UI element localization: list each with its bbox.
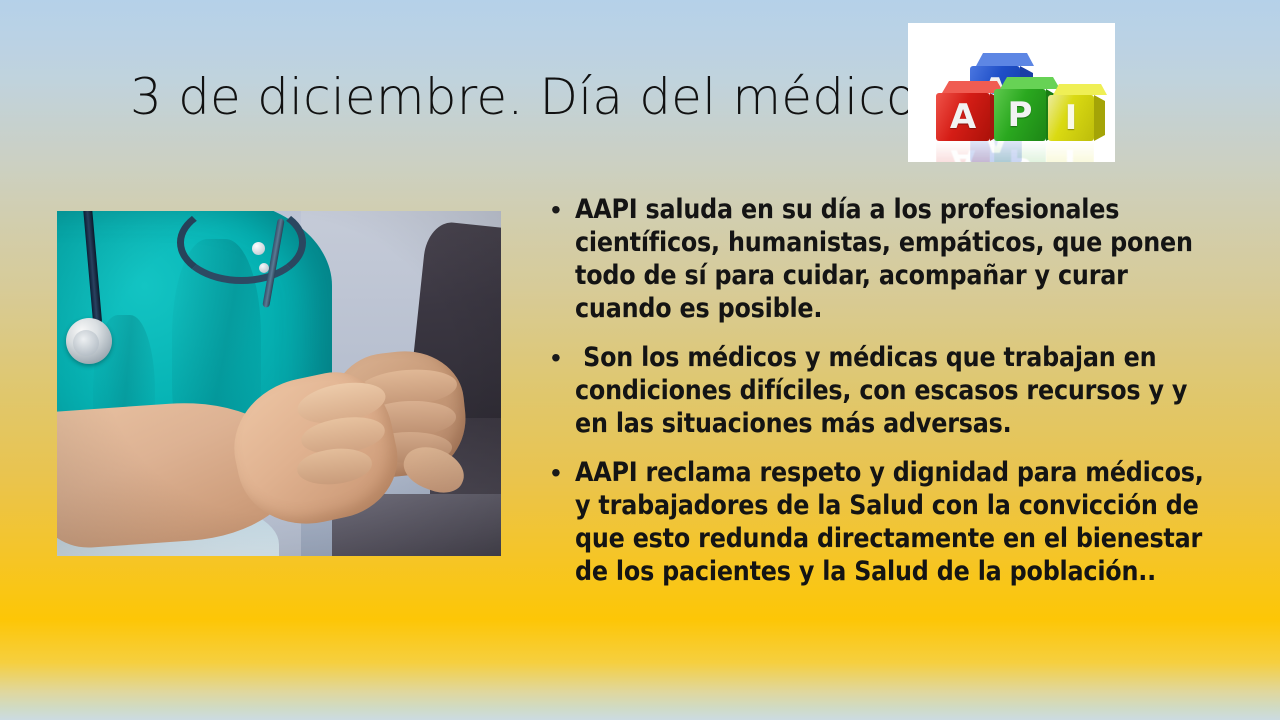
bullet-marker-icon: • [551,456,575,489]
cube-side-face [1094,95,1105,141]
logo-block-p-green: P [994,89,1046,141]
logo-stage: A A P I A A P [908,23,1115,162]
aapi-logo: A A P I A A P [908,23,1115,162]
cube-front-face: P [994,89,1046,141]
cube-top-face [976,53,1034,66]
logo-block-i-yellow: I [1048,95,1094,141]
bullet-text: Son los médicos y médicas que trabajan e… [575,341,1211,440]
bullet-text: AAPI saluda en su día a los profesionale… [575,193,1211,325]
list-item: • AAPI reclama respeto y dignidad para m… [551,456,1211,588]
logo-reflection-p: P [994,139,1046,162]
cube-front-face: A [936,93,990,141]
cube-top-face [1000,77,1060,89]
cube-top-face [1053,84,1107,95]
page-title: 3 de diciembre. Día del médico [130,68,917,126]
bullet-marker-icon: • [551,341,575,374]
cube-front-face: I [1048,95,1094,141]
list-item: • Son los médicos y médicas que trabajan… [551,341,1211,440]
logo-block-a-red: A [936,93,990,141]
bullet-list: • AAPI saluda en su día a los profesiona… [551,193,1211,604]
logo-reflection-i: I [1046,139,1094,162]
list-item: • AAPI saluda en su día a los profesiona… [551,193,1211,325]
doctor-patient-photo [57,211,501,556]
slide: 3 de diciembre. Día del médico A A P I A… [0,0,1280,720]
photo-vignette [57,211,501,556]
bullet-marker-icon: • [551,193,575,226]
bullet-text: AAPI reclama respeto y dignidad para méd… [575,456,1211,588]
logo-reflection-a2: A [936,139,990,162]
